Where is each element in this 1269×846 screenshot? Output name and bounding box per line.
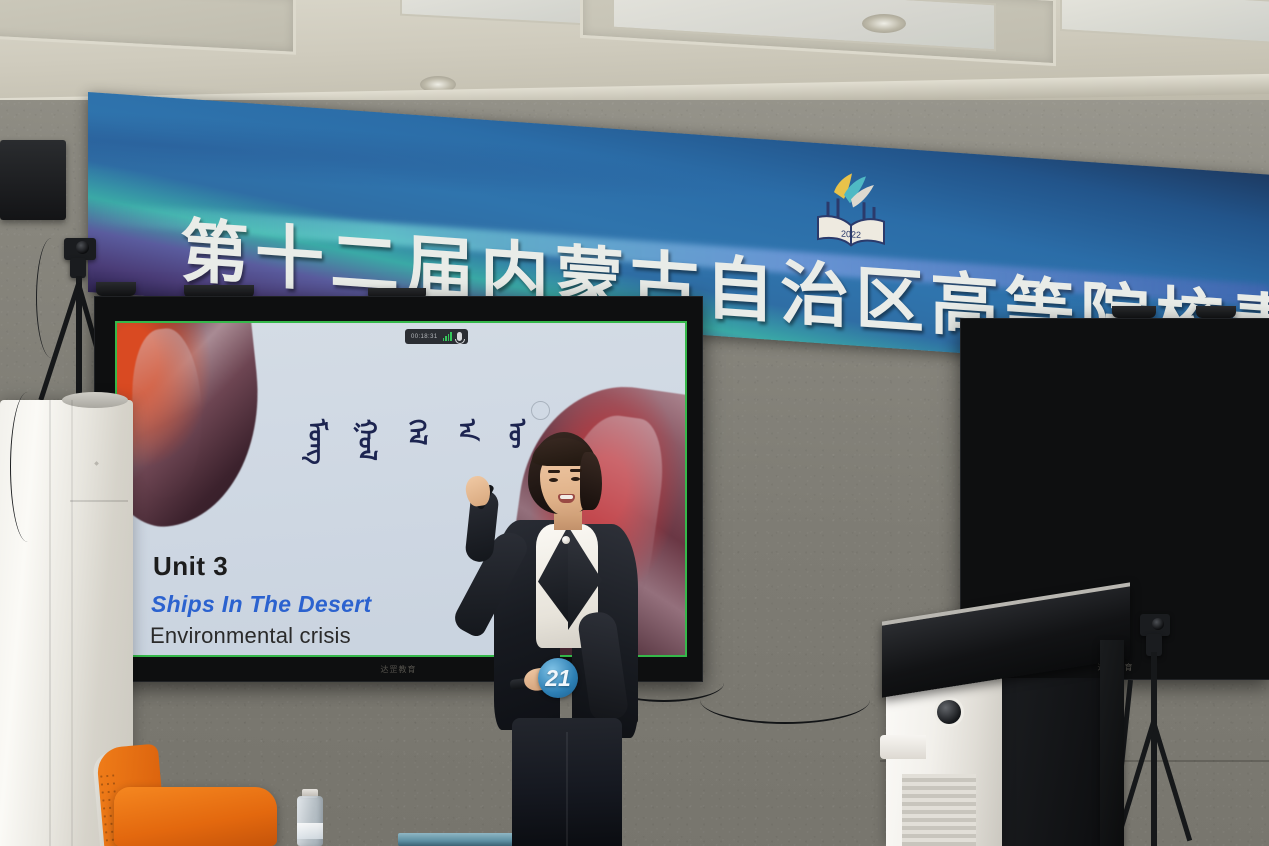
- ceiling-recess-left: [0, 0, 296, 55]
- eyebrow-left: [548, 470, 560, 473]
- presentation-photo-scene: 2022 第十二届内蒙古自治区高等院校青年教师教学 ᠮᠣᠩ ᠭᠣᠯ ᠬᠡᠯ ᠡᠨ: [0, 0, 1269, 846]
- air-purifier-edge-1: [49, 400, 51, 846]
- microphone-icon: [457, 332, 462, 341]
- recording-timer-text: 00:18:31: [411, 334, 438, 340]
- soundbar-module-3: [1112, 306, 1156, 318]
- eye-left: [549, 478, 558, 482]
- air-purifier-seam: [70, 500, 128, 502]
- badge-number: 21: [545, 665, 571, 692]
- lectern-vent-slots: [902, 774, 976, 846]
- purifier-power-cable: [10, 392, 45, 542]
- tv-sensor-left: [96, 282, 136, 296]
- soundbar-module-4: [1196, 306, 1236, 318]
- signal-bars-icon: [443, 333, 452, 341]
- hair-side-lock: [580, 452, 602, 510]
- lectern-dark-cabinet: [1000, 678, 1106, 846]
- slide-watermark-icon: [531, 401, 550, 420]
- ceiling-downlight-2: [862, 14, 906, 33]
- slide-title: Ships In The Desert: [151, 591, 371, 618]
- slide-unit-heading: Unit 3: [153, 551, 228, 582]
- camera-lens-left: [76, 241, 89, 254]
- equipment-stand-right: [1100, 640, 1124, 846]
- necklace-pendant: [562, 536, 570, 544]
- contestant-badge: 21: [538, 658, 578, 698]
- ceiling-light-panel-3: [1060, 0, 1269, 45]
- mongolian-word-2: ᠭᠣᠯ: [355, 419, 379, 465]
- eye-right: [571, 477, 580, 481]
- trouser-seam: [566, 732, 568, 846]
- presenter: 21: [462, 432, 646, 846]
- air-purifier-edge-2: [71, 400, 73, 846]
- wall-speaker-left: [0, 140, 66, 220]
- air-purifier-logo: ◆: [76, 460, 118, 467]
- recording-status-pill[interactable]: 00:18:31: [405, 329, 468, 344]
- camera-lens-right: [1152, 618, 1164, 630]
- eyebrow-right: [570, 469, 582, 472]
- chair-seat: [114, 787, 277, 846]
- lectern-side-tray: [880, 735, 926, 759]
- logo-year-text: 2022: [841, 229, 861, 240]
- slide-canyon-image-left: [115, 321, 272, 533]
- mongolian-word-3: ᠬᠡᠯ: [405, 419, 429, 465]
- camera-head-mount-left: [70, 258, 86, 278]
- mouth: [558, 494, 575, 503]
- floor-cable-2: [700, 676, 870, 724]
- tripod-center-column-right: [1151, 652, 1157, 846]
- camera-cable-left: [36, 238, 67, 358]
- slide-subtitle: Environmental crisis: [150, 623, 351, 649]
- lectern-control-knob[interactable]: [937, 700, 961, 724]
- mongolian-word-1: ᠮᠣᠩ: [305, 419, 329, 465]
- bottle-label: [297, 823, 323, 839]
